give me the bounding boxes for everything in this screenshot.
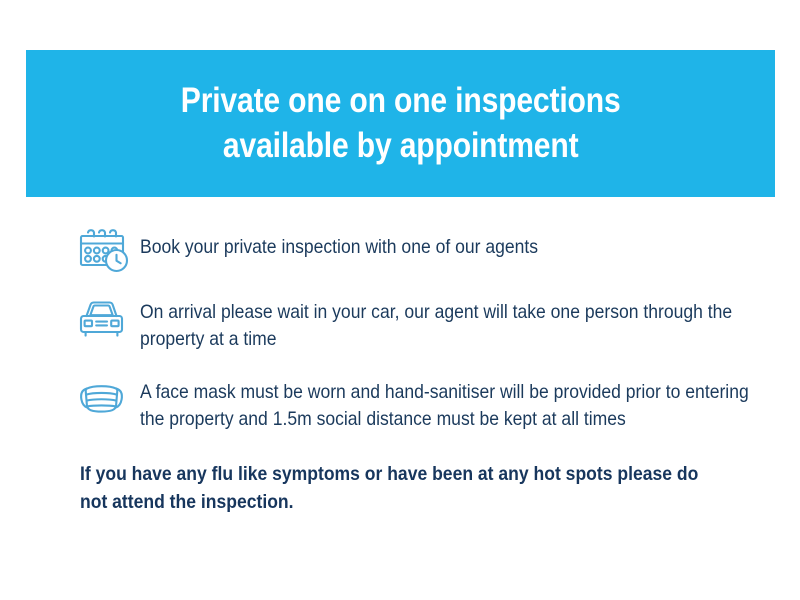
list-item: Book your private inspection with one of… [78, 225, 800, 273]
list-item-text: On arrival please wait in your car, our … [140, 297, 752, 353]
car-front-icon [78, 297, 140, 341]
calendar-clock-icon [78, 225, 140, 273]
banner-title-line-1: Private one on one inspections [181, 79, 621, 124]
banner-title-line-2: available by appointment [223, 124, 578, 169]
header-banner: Private one on one inspections available… [26, 50, 775, 197]
list-item-text: Book your private inspection with one of… [140, 225, 752, 261]
face-mask-icon [78, 377, 140, 419]
list-item: A face mask must be worn and hand-saniti… [78, 377, 800, 433]
footer-warning-note: If you have any flu like symptoms or hav… [80, 461, 728, 516]
list-item-text: A face mask must be worn and hand-saniti… [140, 377, 752, 433]
list-item: On arrival please wait in your car, our … [78, 297, 800, 353]
covid-inspection-poster: Private one on one inspections available… [0, 0, 800, 600]
